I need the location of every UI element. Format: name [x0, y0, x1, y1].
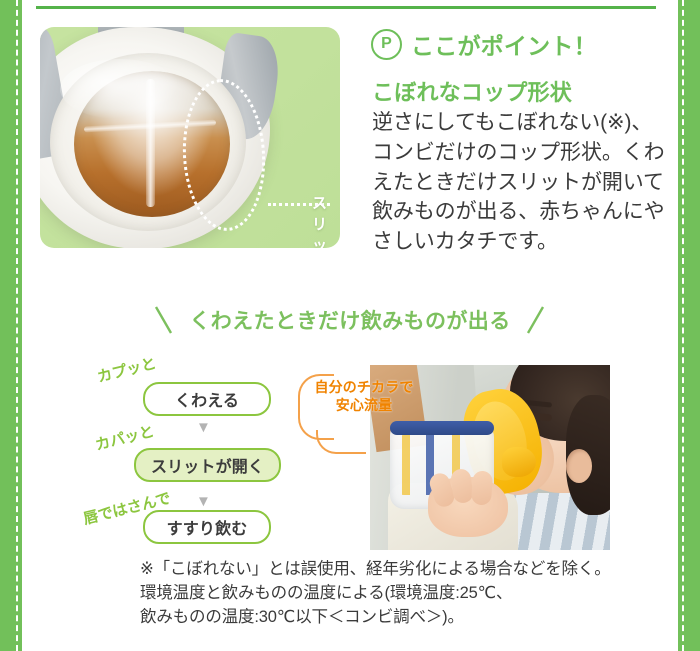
- cup-spout: [502, 447, 536, 477]
- flow-step-1: カプッと くわえる: [98, 366, 313, 422]
- flow-step-2: ▼ カパッと スリットが開く: [98, 422, 313, 478]
- flow-step-3-pill: すすり飲む: [143, 510, 271, 544]
- flow-step-3: ▼ 唇ではさんで すすり飲む: [98, 478, 313, 534]
- footnote: ※「こぼれない」とは誤使用、経年劣化による場合などを除く。 環境温度と飲みものの…: [140, 558, 670, 630]
- flow-step-1-hand-label: カプッと: [95, 352, 158, 387]
- promo-page: スリット P ここがポイント！ こぼれなコップ形状 逆さにしてもこぼれない(※)…: [0, 0, 700, 651]
- orange-callout: 自分のチカラで 安心流量: [300, 378, 428, 415]
- slit-label: スリット: [312, 192, 340, 248]
- right-slash-icon: [525, 303, 547, 337]
- point-p-badge-icon: P: [371, 29, 402, 60]
- footnote-line-2: 環境温度と飲みものの温度による(環境温度:25℃、: [140, 582, 670, 606]
- flow-steps: カプッと くわえる ▼ カパッと スリットが開く ▼ 唇ではさんで すすり飲む: [98, 366, 313, 534]
- footnote-line-1: ※「こぼれない」とは誤使用、経年劣化による場合などを除く。: [140, 558, 670, 582]
- baby-finger-3: [471, 470, 493, 505]
- flow-arrow-1-icon: ▼: [196, 420, 211, 435]
- point-heading-text: ここがポイント！: [411, 27, 597, 61]
- cup-blue-band: [390, 421, 494, 435]
- flow-arrow-2-icon: ▼: [196, 494, 211, 509]
- point-heading-row: P ここがポイント！: [371, 27, 597, 61]
- product-closeup-photo: スリット: [40, 27, 340, 248]
- flow-step-2-pill: スリットが開く: [134, 448, 281, 482]
- flow-step-1-pill: くわえる: [143, 382, 271, 416]
- section-headline-row: くわえたときだけ飲みものが出る: [0, 303, 700, 337]
- section-headline-text: くわえたときだけ飲みものが出る: [189, 305, 510, 335]
- cup-highlight: [60, 59, 180, 119]
- top-divider-rule: [36, 6, 656, 9]
- point-body-copy: 逆さにしてもこぼれない(※)、コンビだけのコップ形状。くわえたときだけスリットが…: [372, 108, 672, 257]
- footnote-line-3: 飲みものの温度:30℃以下＜コンビ調べ＞)。: [140, 606, 670, 630]
- callout-tail-icon: [316, 430, 366, 454]
- left-slash-icon: [153, 303, 175, 337]
- point-subheading: こぼれなコップ形状: [372, 75, 572, 107]
- baby-ear: [566, 449, 592, 483]
